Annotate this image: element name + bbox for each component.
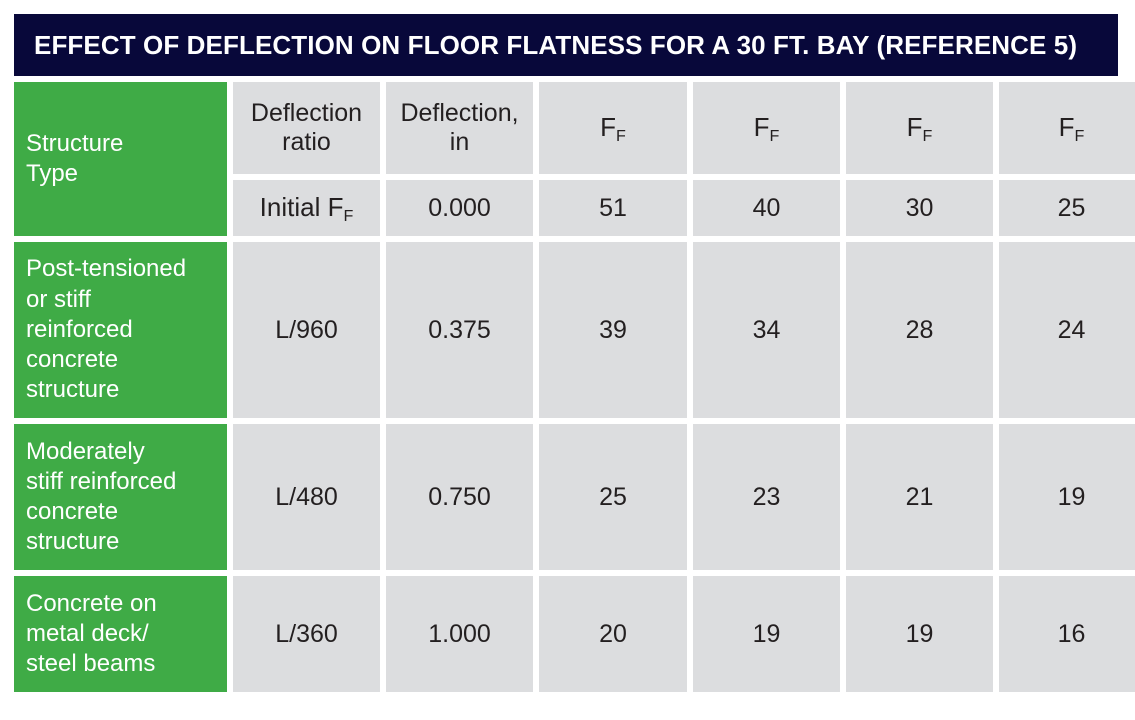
cell-initial-ff-4: 25	[999, 180, 1135, 236]
cell-ff-3-3: 19	[846, 576, 993, 692]
ff-sub: F	[923, 127, 933, 145]
ff-base: F	[600, 112, 616, 142]
cell-deflection-in-3: 1.000	[386, 576, 533, 692]
initial-ff-label: Initial FF	[260, 193, 354, 223]
ff-sub: F	[1075, 127, 1085, 145]
cell-initial-ff-3: 30	[846, 180, 993, 236]
cell-ff-3-1: 20	[539, 576, 687, 692]
cell-ff-2-2: 23	[693, 424, 840, 570]
cell-ff-1-3: 28	[846, 242, 993, 418]
ff-symbol: FF	[754, 113, 780, 143]
deflection-flatness-table: EFFECT OF DEFLECTION ON FLOOR FLATNESS F…	[14, 14, 1118, 692]
cell-deflection-in-1: 0.375	[386, 242, 533, 418]
cell-ff-2-1: 25	[539, 424, 687, 570]
header-deflection-in: Deflection, in	[386, 82, 533, 174]
header-ff-2: FF	[693, 82, 840, 174]
cell-ff-1-2: 34	[693, 242, 840, 418]
ff-base: F	[1059, 112, 1075, 142]
page-root: EFFECT OF DEFLECTION ON FLOOR FLATNESS F…	[0, 0, 1135, 720]
header-ff-1: FF	[539, 82, 687, 174]
cell-ff-3-4: 16	[999, 576, 1135, 692]
ff-base: F	[907, 112, 923, 142]
cell-ff-2-3: 21	[846, 424, 993, 570]
cell-structure-type-3: Concrete on metal deck/ steel beams	[14, 576, 227, 692]
ff-sub: F	[770, 127, 780, 145]
cell-deflection-ratio-3: L/360	[233, 576, 380, 692]
cell-structure-type-1: Post-tensioned or stiff reinforced concr…	[14, 242, 227, 418]
cell-initial-ff-2: 40	[693, 180, 840, 236]
ff-symbol: FF	[1059, 113, 1085, 143]
ff-symbol: FF	[907, 113, 933, 143]
cell-deflection-ratio-1: L/960	[233, 242, 380, 418]
ff-symbol: FF	[600, 113, 626, 143]
cell-ff-1-1: 39	[539, 242, 687, 418]
ff-base: F	[754, 112, 770, 142]
table-grid: Structure Type Deflection ratio Deflecti…	[14, 82, 1118, 692]
header-structure-type: Structure Type	[14, 82, 227, 236]
cell-initial-ff-1: 51	[539, 180, 687, 236]
table-title-bar: EFFECT OF DEFLECTION ON FLOOR FLATNESS F…	[14, 14, 1118, 76]
cell-initial-deflection-in: 0.000	[386, 180, 533, 236]
header-deflection-ratio: Deflection ratio	[233, 82, 380, 174]
header-ff-4: FF	[999, 82, 1135, 174]
ff-sub: F	[616, 127, 626, 145]
cell-structure-type-2: Moderately stiff reinforced concrete str…	[14, 424, 227, 570]
initial-ff-sub: F	[343, 207, 353, 225]
header-ff-3: FF	[846, 82, 993, 174]
cell-initial-ff-label: Initial FF	[233, 180, 380, 236]
cell-ff-2-4: 19	[999, 424, 1135, 570]
cell-deflection-in-2: 0.750	[386, 424, 533, 570]
cell-ff-1-4: 24	[999, 242, 1135, 418]
initial-ff-base: Initial F	[260, 192, 344, 222]
table-title: EFFECT OF DEFLECTION ON FLOOR FLATNESS F…	[34, 31, 1077, 60]
cell-ff-3-2: 19	[693, 576, 840, 692]
cell-deflection-ratio-2: L/480	[233, 424, 380, 570]
